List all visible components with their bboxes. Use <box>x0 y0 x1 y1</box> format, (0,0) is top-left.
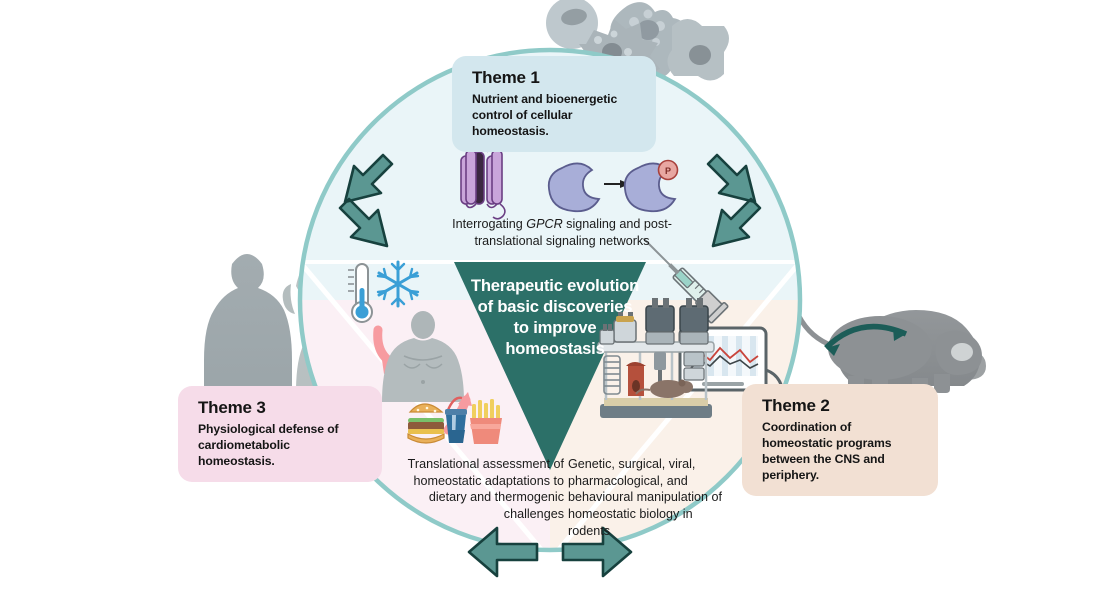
svg-text:P: P <box>665 166 671 176</box>
theme-1-description: Nutrient and bioenergetic control of cel… <box>472 91 640 139</box>
theme-3-caption: Translational assessment of homeostatic … <box>392 456 564 523</box>
theme-1-caption-italic: GPCR <box>526 217 562 231</box>
center-line-3: to improve <box>462 318 648 339</box>
center-line-1: Therapeutic evolution <box>462 276 648 297</box>
center-statement: Therapeutic evolution of basic discoveri… <box>462 276 648 360</box>
theme-2-title: Theme 2 <box>762 396 922 416</box>
theme-1-caption: Interrogating GPCR signaling and post-tr… <box>440 216 684 249</box>
center-line-4: homeostasis <box>462 339 648 360</box>
theme-1-title: Theme 1 <box>472 68 640 88</box>
theme-2-caption: Genetic, surgical, viral, pharmacologica… <box>568 456 728 540</box>
theme-1-label-box: Theme 1 Nutrient and bioenergetic contro… <box>452 56 656 152</box>
theme-1-caption-pre: Interrogating <box>452 217 526 231</box>
fries-icon <box>470 399 502 444</box>
theme-2-label-box: Theme 2 Coordination of homeostatic prog… <box>742 384 938 496</box>
theme-3-description: Physiological defense of cardiometabolic… <box>198 421 366 469</box>
center-line-2: of basic discoveries <box>462 297 648 318</box>
theme-3-title: Theme 3 <box>198 398 366 418</box>
theme-2-description: Coordination of homeostatic programs bet… <box>762 419 922 483</box>
figure-canvas: P <box>0 0 1100 600</box>
theme-3-label-box: Theme 3 Physiological defense of cardiom… <box>178 386 382 482</box>
